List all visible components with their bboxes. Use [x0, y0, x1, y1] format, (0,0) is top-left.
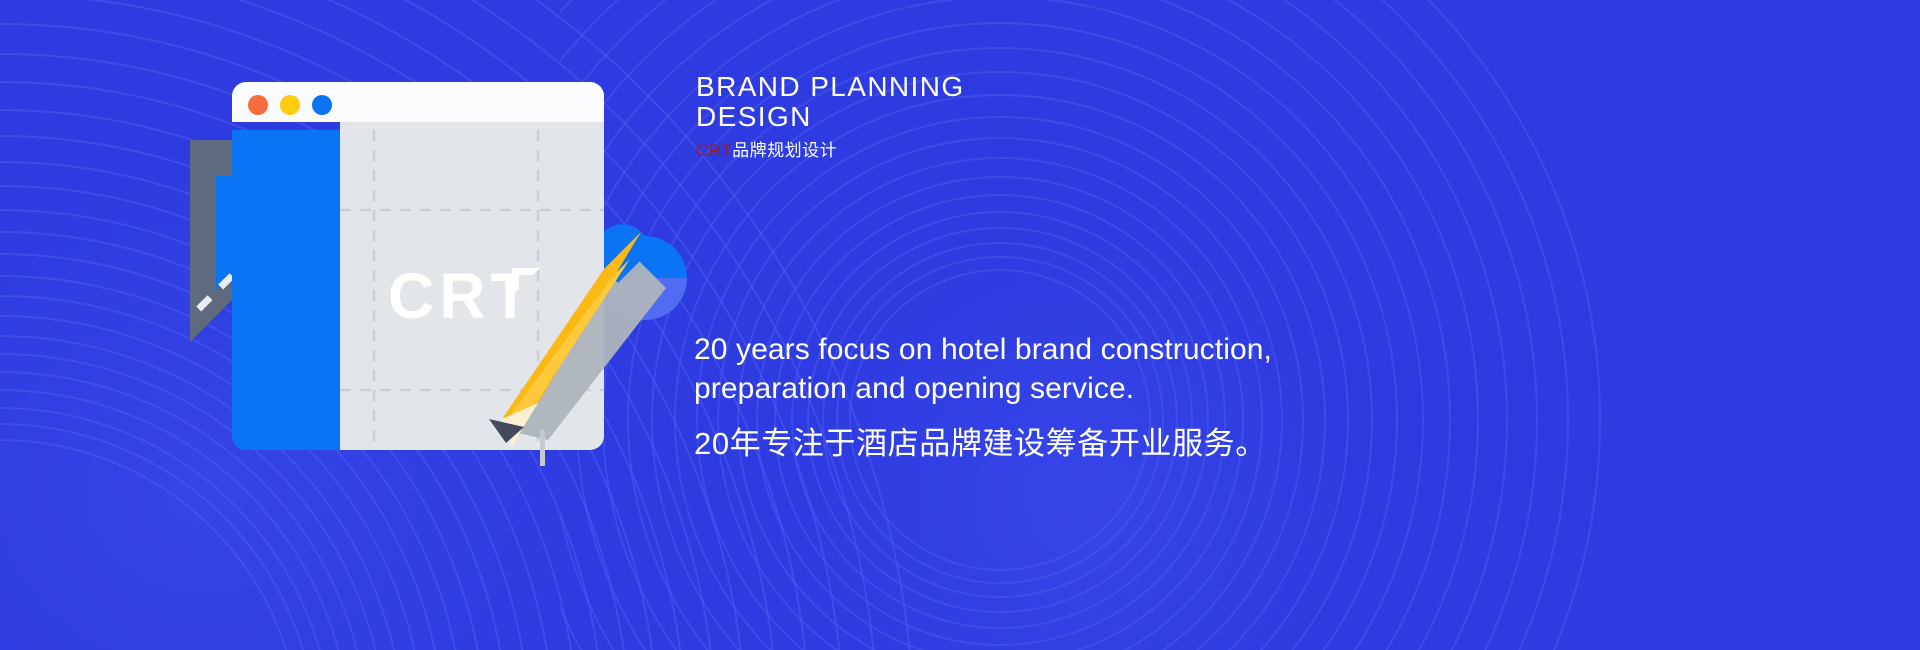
maximize-dot [312, 95, 332, 115]
tagline-english: 20 years focus on hotel brand constructi… [694, 330, 1454, 408]
crt-watermark: CRT [388, 260, 540, 332]
minimize-dot [280, 95, 300, 115]
tagline-chinese: 20年专注于酒店品牌建设筹备开业服务。 [694, 424, 1454, 464]
brand-subtitle: CRT品牌规划设计 [696, 140, 1296, 162]
brand-subtitle-cn: 品牌规划设计 [732, 141, 837, 160]
tagline-block: 20 years focus on hotel brand constructi… [694, 330, 1454, 464]
blue-panel [232, 130, 340, 450]
headline-block: BRAND PLANNING DESIGN CRT品牌规划设计 [696, 72, 1296, 162]
window-controls [248, 95, 332, 115]
promo-banner: CRT [0, 0, 1920, 650]
brand-name: CRT [696, 141, 732, 160]
page-title: BRAND PLANNING DESIGN [696, 72, 1296, 132]
close-dot [248, 95, 268, 115]
design-illustration: CRT [0, 0, 760, 650]
